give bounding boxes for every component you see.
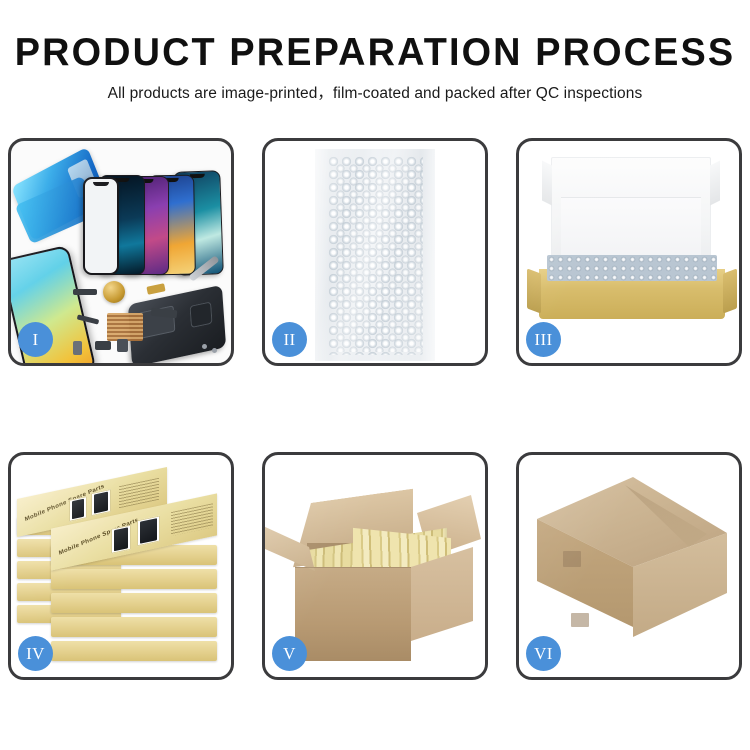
box-stack-group: Mobile Phone Spare Parts Mobile Phone Sp… [17,469,225,659]
step-panel-3: III [516,138,742,366]
carton-label-patch [571,613,589,627]
box-spec-lines [171,503,213,536]
steps-grid: I II III [8,138,742,680]
speaker-part-icon [95,341,111,350]
step-panel-1: I [8,138,234,366]
carton-label-patch [563,551,581,567]
step-panel-2: II [262,138,488,366]
vibrator-part-icon [117,339,128,352]
step-panel-4: Mobile Phone Spare Parts Mobile Phone Sp… [8,452,234,680]
bracket-part-icon [146,283,165,295]
box-window-thumb [111,525,131,554]
step-panel-5: V [262,452,488,680]
box-spec-lines [119,478,159,509]
bubble-wrap-bag-icon [315,149,435,361]
step-panel-6: VI [516,452,742,680]
carton-seam [295,567,411,568]
step-badge-4: IV [18,636,53,671]
flex-cable-part-icon [73,289,97,295]
kraft-tray-icon [539,269,725,319]
step-badge-6: VI [526,636,561,671]
stacked-box-body [51,569,217,589]
plastic-sheen [315,149,435,361]
box-window-thumb [69,496,87,522]
screw-part-icon [212,348,217,353]
step-badge-1: I [18,322,53,357]
stacked-box-body [51,641,217,661]
page-title: PRODUCT PREPARATION PROCESS [11,30,739,76]
button-part-icon [73,341,82,355]
box-window-thumb [91,489,111,516]
page-subtitle: All products are image-printed，film-coat… [0,84,750,104]
gold-coil-part-icon [103,281,125,303]
step-badge-5: V [272,636,307,671]
stacked-box-body [51,593,217,613]
phone-glass-screen-icon [83,177,119,275]
header: PRODUCT PREPARATION PROCESS All products… [0,30,750,104]
box-window-thumb [137,515,160,546]
bubble-wrapped-contents-icon [547,255,717,281]
screw-part-icon [202,344,207,349]
step-badge-3: III [526,322,561,357]
product-preparation-infographic: PRODUCT PREPARATION PROCESS All products… [0,0,750,750]
carton-front-face [295,567,411,661]
stacked-box-body [51,617,217,637]
chip-grid-part-icon [107,313,143,341]
phone-fan-group [83,145,231,275]
step-badge-2: II [272,322,307,357]
